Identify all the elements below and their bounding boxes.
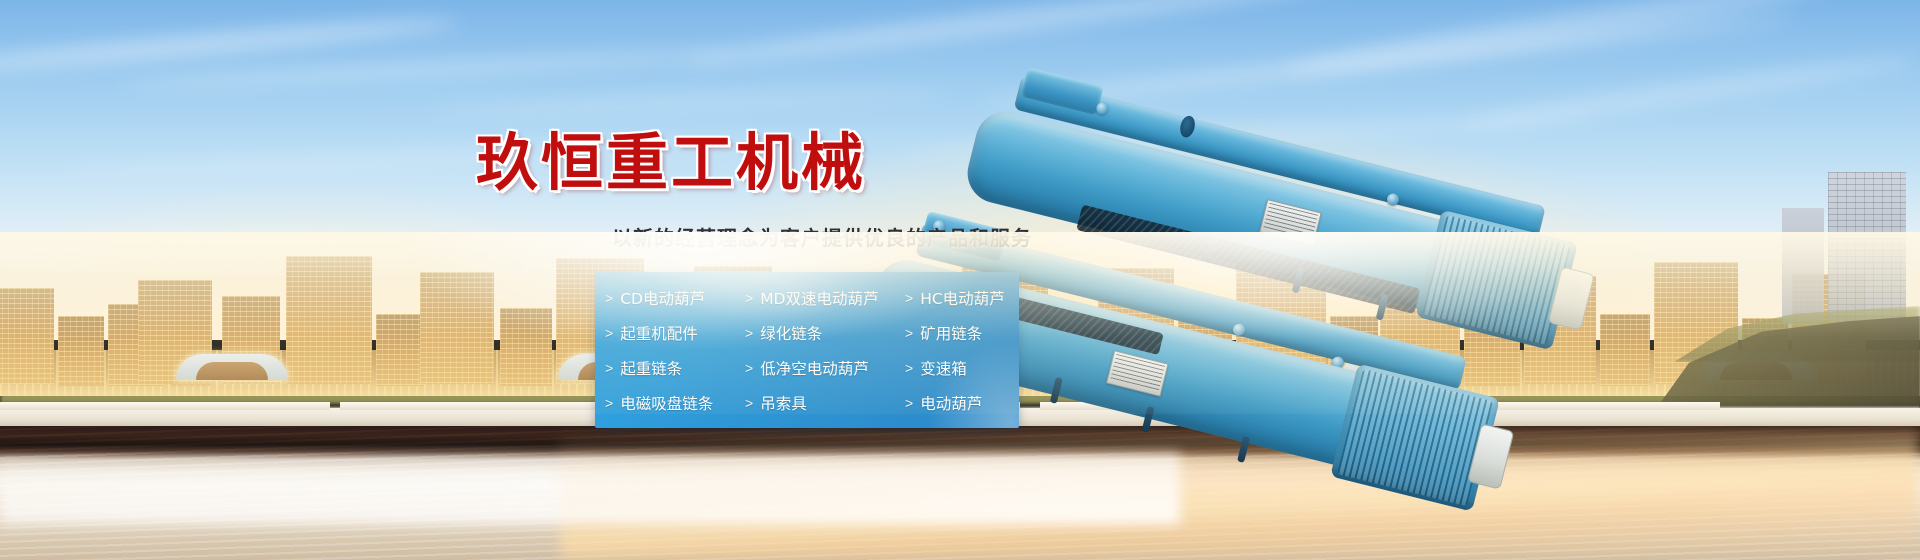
product-link-label: 电磁吸盘链条 xyxy=(620,392,713,414)
product-link-label: HC电动葫芦 xyxy=(920,287,1004,309)
product-link[interactable]: > 低净空电动葫芦 xyxy=(745,357,905,379)
chevron-right-icon: > xyxy=(905,360,913,376)
page-title: 玖恒重工机械 xyxy=(476,112,866,202)
product-link-label: 矿用链条 xyxy=(920,322,982,344)
building xyxy=(376,314,424,386)
product-link[interactable]: > 矿用链条 xyxy=(905,322,1019,344)
product-link[interactable]: > MD双速电动葫芦 xyxy=(745,287,905,309)
chevron-right-icon: > xyxy=(905,325,913,341)
product-links-row: > CD电动葫芦 > MD双速电动葫芦 > HC电动葫芦 xyxy=(595,280,1019,315)
product-links-row: > 起重链条 > 低净空电动葫芦 > 变速箱 xyxy=(595,350,1019,385)
page-subtitle: 以新的经营理念为客户提供优良的产品和服务 xyxy=(612,222,1032,251)
product-link-label: 起重机配件 xyxy=(620,322,698,344)
product-links-row: > 电磁吸盘链条 > 吊索具 > 电动葫芦 xyxy=(595,385,1019,420)
chevron-right-icon: > xyxy=(605,360,613,376)
product-link[interactable]: > 变速箱 xyxy=(905,357,1019,379)
product-link-label: CD电动葫芦 xyxy=(620,287,705,309)
building xyxy=(0,288,54,384)
hoist-motor xyxy=(1330,364,1500,512)
product-links-grid: > CD电动葫芦 > MD双速电动葫芦 > HC电动葫芦 > 起重机配件 xyxy=(595,272,1019,428)
building xyxy=(286,256,372,384)
product-link[interactable]: > 起重链条 xyxy=(605,357,745,379)
product-links-row: > 起重机配件 > 绿化链条 > 矿用链条 xyxy=(595,315,1019,350)
product-link[interactable]: > 吊索具 xyxy=(745,392,905,414)
product-link[interactable]: > HC电动葫芦 xyxy=(905,287,1019,309)
civic-dome xyxy=(176,354,288,380)
hero-banner: 玖恒重工机械 以新的经营理念为客户提供优良的产品和服务 > CD电动葫芦 > M… xyxy=(0,0,1920,560)
chevron-right-icon: > xyxy=(605,395,613,411)
chevron-right-icon: > xyxy=(905,290,913,306)
product-link[interactable]: > CD电动葫芦 xyxy=(605,287,745,309)
chevron-right-icon: > xyxy=(745,360,753,376)
product-link-label: 吊索具 xyxy=(760,392,807,414)
chevron-right-icon: > xyxy=(745,290,753,306)
road-highlight xyxy=(0,452,1180,524)
wall-segment xyxy=(0,402,330,410)
product-link-label: 变速箱 xyxy=(920,357,967,379)
product-link[interactable]: > 电磁吸盘链条 xyxy=(605,392,745,414)
product-link-label: MD双速电动葫芦 xyxy=(760,287,878,309)
chevron-right-icon: > xyxy=(605,290,613,306)
product-link[interactable]: > 电动葫芦 xyxy=(905,392,1019,414)
product-link-label: 电动葫芦 xyxy=(920,392,982,414)
chevron-right-icon: > xyxy=(605,325,613,341)
product-links-panel: > CD电动葫芦 > MD双速电动葫芦 > HC电动葫芦 > 起重机配件 xyxy=(595,272,1019,428)
hoist-motor xyxy=(1415,210,1577,351)
product-link[interactable]: > 起重机配件 xyxy=(605,322,745,344)
product-link[interactable]: > 绿化链条 xyxy=(745,322,905,344)
building xyxy=(420,272,494,384)
building xyxy=(58,316,104,386)
chevron-right-icon: > xyxy=(745,395,753,411)
chevron-right-icon: > xyxy=(745,325,753,341)
product-link-label: 绿化链条 xyxy=(760,322,822,344)
product-link-label: 起重链条 xyxy=(620,357,682,379)
chevron-right-icon: > xyxy=(905,395,913,411)
product-link-label: 低净空电动葫芦 xyxy=(760,357,869,379)
building xyxy=(500,308,552,386)
